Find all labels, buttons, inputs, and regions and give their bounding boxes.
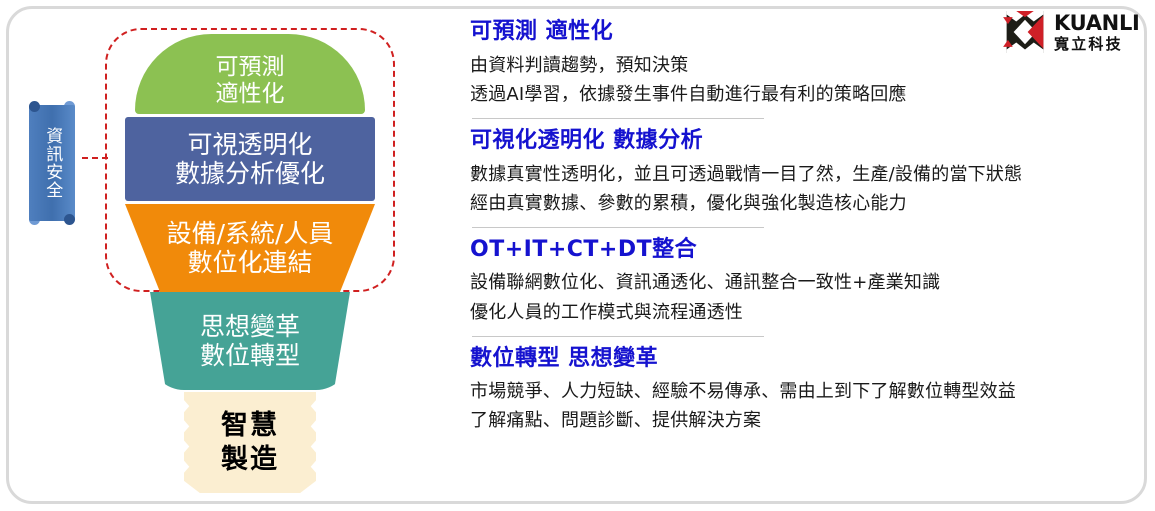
company-logo: KUANLI 寬立科技 bbox=[1003, 11, 1140, 53]
slide-canvas: 資訊安全 可預測 適性化 可視透明化 數據分析優化 設備/系統/人員 數位化連結… bbox=[0, 0, 1155, 511]
segment-line-1: 可視透明化 bbox=[187, 130, 312, 159]
kuanli-x-mark-icon bbox=[1003, 11, 1047, 53]
section-transformation: 數位轉型 思想變革 市場競爭、人力短缺、經驗不易傳承、需由上到下了解數位轉型效益… bbox=[470, 336, 1118, 436]
section-divider bbox=[472, 336, 764, 337]
segment-line-2: 數位化連結 bbox=[187, 248, 312, 277]
segment-line-2: 數位轉型 bbox=[200, 341, 300, 370]
lightbulb-diagram: 資訊安全 可預測 適性化 可視透明化 數據分析優化 設備/系統/人員 數位化連結… bbox=[0, 0, 450, 511]
section-line: 數據真實性透明化，並且可透過戰情一目了然，生產/設備的當下狀態 bbox=[470, 160, 1118, 189]
section-line: 由資料判讀趨勢，預知決策 bbox=[470, 51, 1118, 80]
section-title: 可視化透明化 數據分析 bbox=[470, 127, 1118, 156]
bulb-base-label: 智慧 製造 bbox=[184, 392, 316, 493]
bulb-segment-digital-link: 設備/系統/人員 數位化連結 bbox=[125, 204, 375, 292]
section-title: 數位轉型 思想變革 bbox=[470, 345, 1118, 374]
bulb-segment-predictive: 可預測 適性化 bbox=[135, 34, 365, 114]
section-line: 了解痛點、問題診斷、提供解決方案 bbox=[470, 406, 1118, 435]
section-visualization: 可視化透明化 數據分析 數據真實性透明化，並且可透過戰情一目了然，生產/設備的當… bbox=[470, 118, 1118, 218]
section-line: 設備聯網數位化、資訊通透化、通訊整合一致性+產業知識 bbox=[470, 268, 1118, 297]
logo-name-cn: 寬立科技 bbox=[1054, 37, 1140, 52]
section-line: 市場競爭、人力短缺、經驗不易傳承、需由上到下了解數位轉型效益 bbox=[470, 377, 1118, 406]
logo-wordmark: KUANLI 寬立科技 bbox=[1054, 13, 1140, 52]
description-panel: 可預測 適性化 由資料判讀趨勢，預知決策 透過AI學習，依據發生事件自動進行最有… bbox=[470, 18, 1118, 436]
logo-name-en: KUANLI bbox=[1054, 13, 1140, 34]
section-integration: OT+IT+CT+DT整合 設備聯網數位化、資訊通透化、通訊整合一致性+產業知識… bbox=[470, 227, 1118, 327]
section-title: OT+IT+CT+DT整合 bbox=[470, 236, 1118, 265]
section-divider bbox=[472, 118, 764, 119]
section-divider bbox=[472, 227, 764, 228]
section-line: 經由真實數據、參數的累積，優化與強化製造核心能力 bbox=[470, 189, 1118, 218]
segment-line-2: 數據分析優化 bbox=[175, 159, 325, 188]
section-line: 優化人員的工作模式與流程通透性 bbox=[470, 298, 1118, 327]
segment-line-2: 適性化 bbox=[216, 81, 285, 108]
section-line: 透過AI學習，依據發生事件自動進行最有利的策略回應 bbox=[470, 80, 1118, 109]
base-line-1: 智慧 bbox=[221, 409, 279, 443]
segment-line-1: 思想變革 bbox=[200, 312, 300, 341]
base-line-2: 製造 bbox=[221, 443, 279, 477]
segment-line-1: 可預測 bbox=[216, 54, 285, 81]
security-banner-label: 資訊安全 bbox=[29, 105, 75, 221]
segment-line-1: 設備/系統/人員 bbox=[167, 219, 334, 248]
bulb-segment-transformation: 思想變革 數位轉型 bbox=[150, 292, 350, 390]
bulb-segment-visualization: 可視透明化 數據分析優化 bbox=[125, 117, 375, 201]
information-security-banner: 資訊安全 bbox=[29, 101, 75, 225]
dashed-connector-line bbox=[82, 157, 108, 159]
